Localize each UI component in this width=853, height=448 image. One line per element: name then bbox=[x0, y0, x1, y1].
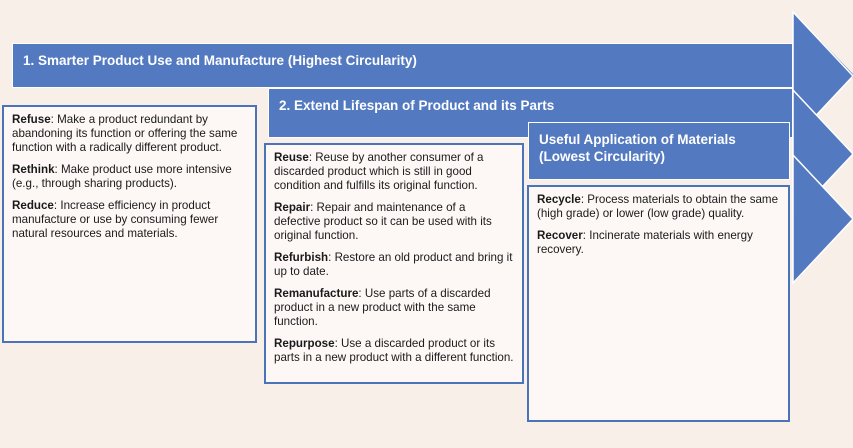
entry-term: Refuse bbox=[12, 113, 51, 126]
entry-term: Rethink bbox=[12, 163, 55, 176]
entry-recycle: Recycle: Process materials to obtain the… bbox=[537, 193, 780, 221]
entry-repurpose: Repurpose: Use a discarded product or it… bbox=[274, 337, 514, 365]
stage-3-header: Useful Application of Materials (Lowest … bbox=[528, 122, 790, 180]
entry-term: Repurpose bbox=[274, 337, 335, 350]
entry-reduce: Reduce: Increase efficiency in product m… bbox=[12, 199, 247, 241]
entry-refuse: Refuse: Make a product redundant by aban… bbox=[12, 113, 247, 155]
stage-3-body: Recycle: Process materials to obtain the… bbox=[527, 185, 790, 422]
entry-remanufacture: Remanufacture: Use parts of a discarded … bbox=[274, 287, 514, 329]
entry-term: Recover bbox=[537, 229, 583, 242]
stage-2-body: Reuse: Reuse by another consumer of a di… bbox=[264, 143, 524, 384]
diagram-canvas: 1. Smarter Product Use and Manufacture (… bbox=[0, 0, 853, 448]
entry-reuse: Reuse: Reuse by another consumer of a di… bbox=[274, 151, 514, 193]
entry-term: Remanufacture bbox=[274, 287, 358, 300]
arrow-2-head-icon bbox=[793, 90, 853, 218]
arrow-1-head-icon bbox=[793, 12, 853, 140]
stage-1-body: Refuse: Make a product redundant by aban… bbox=[2, 105, 257, 343]
stage-1-header: 1. Smarter Product Use and Manufacture (… bbox=[12, 43, 793, 88]
arrow-1-icon bbox=[793, 12, 853, 88]
entry-term: Reuse bbox=[274, 151, 309, 164]
entry-term: Recycle bbox=[537, 193, 581, 206]
entry-rethink: Rethink: Make product use more intensive… bbox=[12, 163, 247, 191]
entry-repair: Repair: Repair and maintenance of a defe… bbox=[274, 201, 514, 243]
entry-recover: Recover: Incinerate materials with energ… bbox=[537, 229, 780, 257]
entry-refurbish: Refurbish: Restore an old product and br… bbox=[274, 251, 514, 279]
entry-term: Refurbish bbox=[274, 251, 328, 264]
entry-term: Reduce bbox=[12, 199, 54, 212]
arrow-3-head-icon bbox=[793, 155, 853, 283]
entry-term: Repair bbox=[274, 201, 310, 214]
